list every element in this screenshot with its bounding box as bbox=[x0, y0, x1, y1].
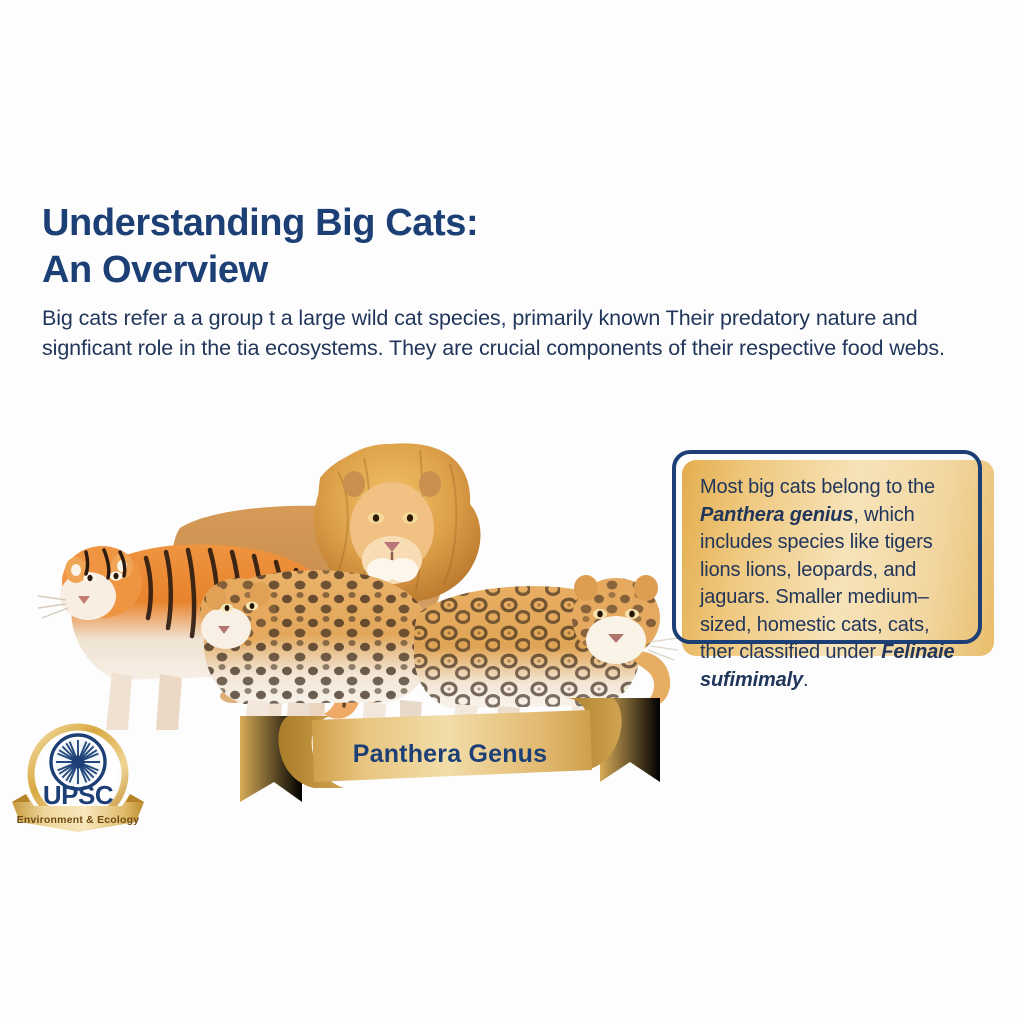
callout-text: Most big cats belong to the Panthera gen… bbox=[700, 474, 968, 694]
page-title-line-2: An Overview bbox=[42, 247, 682, 294]
page-title: Understanding Big Cats: An Overview bbox=[42, 200, 682, 294]
callout-text-part-2: , which includes species like tigers lio… bbox=[700, 504, 933, 664]
big-cats-illustration bbox=[20, 400, 680, 730]
callout-emphasis-panthera: Panthera genius bbox=[700, 504, 853, 526]
upsc-tagline: Environment & Ecology bbox=[8, 814, 148, 826]
intro-paragraph: Big cats refer a a group t a large wild … bbox=[42, 303, 947, 363]
upsc-acronym: UPSC bbox=[8, 780, 148, 811]
callout-text-part-3: . bbox=[803, 669, 808, 691]
panthera-callout: Most big cats belong to the Panthera gen… bbox=[672, 450, 994, 656]
callout-text-part-1: Most big cats belong to the bbox=[700, 476, 935, 498]
infographic-canvas: Understanding Big Cats: An Overview Big … bbox=[0, 0, 1024, 1024]
panthera-genus-ribbon: Panthera Genus bbox=[240, 690, 660, 820]
upsc-seal: UPSC Environment & Ecology bbox=[8, 722, 148, 840]
page-title-line-1: Understanding Big Cats: bbox=[42, 200, 682, 247]
